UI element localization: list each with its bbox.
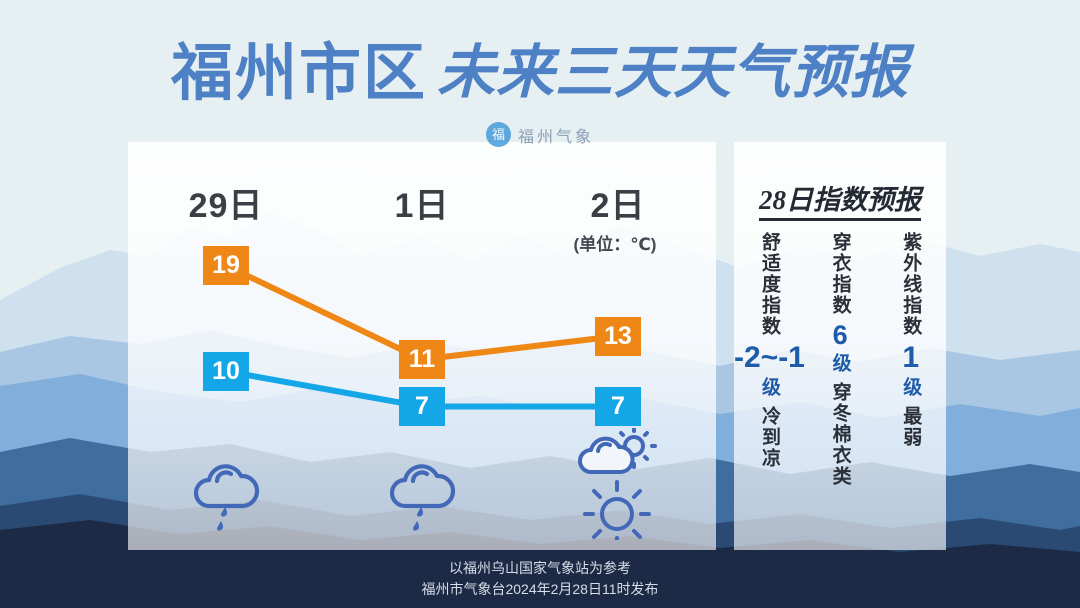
low-temp-box-0: 10 bbox=[203, 352, 249, 391]
index-value-0: -2~-1 bbox=[734, 341, 805, 375]
page-title: 福州市区未来三天天气预报 bbox=[0, 22, 1080, 112]
index-columns: 舒适度指数 -2~-1 级 冷到凉 穿衣指数 6 级 穿冬棉衣类 紫外线指数 1… bbox=[734, 232, 946, 542]
title-main: 福州市区 bbox=[171, 40, 427, 108]
index-column-clothing: 穿衣指数 6 级 穿冬棉衣类 bbox=[805, 232, 876, 542]
index-desc-0: 冷到凉 bbox=[760, 406, 779, 469]
high-temp-box-2: 13 bbox=[595, 317, 641, 356]
index-panel-title-text: 28日指数预报 bbox=[759, 185, 921, 221]
day-label-0: 29日 bbox=[128, 178, 324, 226]
rain-icon bbox=[383, 454, 461, 540]
index-column-uv: 紫外线指数 1 级 最弱 bbox=[875, 232, 946, 542]
day-label-1: 1日 bbox=[324, 178, 520, 226]
infographic-canvas: 福州市区未来三天天气预报 福 福州气象 29日 1日 2日 (单位：℃) 19 … bbox=[0, 0, 1080, 608]
index-desc-2: 最弱 bbox=[901, 406, 920, 448]
low-temp-box-1: 7 bbox=[399, 387, 445, 426]
footer-line-1: 以福州乌山国家气象站为参考 bbox=[0, 558, 1080, 579]
index-desc-1: 穿冬棉衣类 bbox=[831, 382, 850, 487]
weather-icon-row bbox=[128, 430, 716, 540]
cloud-sun-to-sun-icon-group bbox=[571, 428, 665, 540]
weather-icon-cell-1 bbox=[324, 430, 520, 540]
low-temp-box-2: 7 bbox=[595, 387, 641, 426]
day-label-2: 2日 bbox=[520, 178, 716, 226]
index-unit-1: 级 bbox=[831, 353, 850, 374]
high-temp-box-1: 11 bbox=[399, 340, 445, 379]
index-column-comfort: 舒适度指数 -2~-1 级 冷到凉 bbox=[734, 232, 805, 542]
day-header-row: 29日 1日 2日 bbox=[128, 178, 716, 226]
index-panel-title: 28日指数预报 bbox=[734, 178, 946, 217]
index-value-1: 6 bbox=[833, 320, 848, 351]
weather-icon-cell-2 bbox=[520, 430, 716, 540]
rain-icon bbox=[187, 454, 265, 540]
index-unit-0: 级 bbox=[760, 377, 779, 398]
index-unit-2: 级 bbox=[901, 377, 920, 398]
index-value-2: 1 bbox=[902, 341, 919, 375]
index-name-1: 穿衣指数 bbox=[831, 232, 850, 316]
sun-icon bbox=[585, 482, 649, 540]
cloud-sun-icon bbox=[580, 428, 655, 472]
unit-label: (单位：℃) bbox=[520, 230, 710, 255]
footer: 以福州乌山国家气象站为参考 福州市气象台2024年2月28日11时发布 bbox=[0, 558, 1080, 600]
title-sub: 未来三天天气预报 bbox=[437, 40, 909, 105]
index-name-2: 紫外线指数 bbox=[901, 232, 920, 337]
high-temp-box-0: 19 bbox=[203, 246, 249, 285]
footer-line-2: 福州市气象台2024年2月28日11时发布 bbox=[0, 579, 1080, 600]
weather-icon-cell-0 bbox=[128, 430, 324, 540]
index-name-0: 舒适度指数 bbox=[760, 232, 779, 337]
